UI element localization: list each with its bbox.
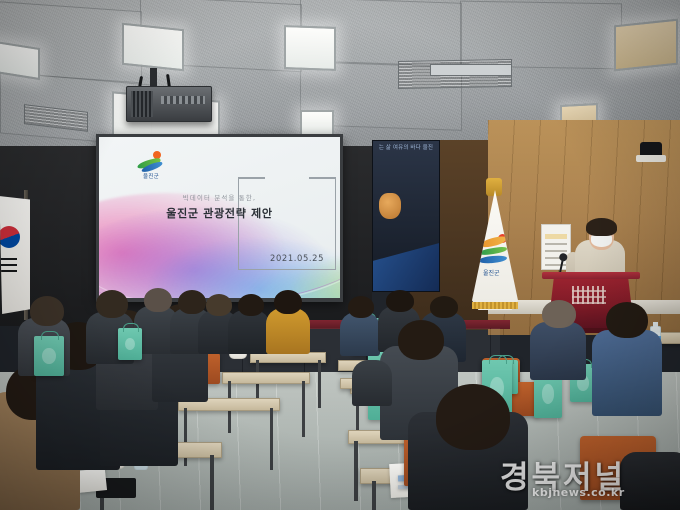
audience-person-head — [274, 290, 302, 314]
audience-person-head — [606, 302, 648, 338]
audience-person-head — [398, 320, 444, 360]
conference-photo: 는 삶 여유의 바다 울진 울진군 빅데이터 분석을 통한, 울진군 관광전략 … — [0, 0, 680, 510]
speaker-hair — [586, 218, 617, 236]
slide-subtitle: 빅데이터 분석을 통한, — [99, 193, 340, 202]
cctv-camera-icon — [640, 142, 662, 158]
uljin-flag-label: 울진군 — [483, 268, 500, 277]
uljin-logo-label: 울진군 — [143, 172, 159, 180]
audience-person — [228, 310, 270, 354]
ceiling-air-vent — [430, 64, 512, 76]
audience-person-head — [430, 296, 458, 318]
audience-person-head — [30, 296, 64, 326]
audience-person-head — [542, 300, 576, 328]
korean-national-flag — [0, 196, 30, 314]
audience-person — [352, 360, 392, 406]
audience-table — [222, 372, 310, 384]
audience-person-head — [144, 288, 172, 312]
gift-bag — [34, 336, 64, 376]
ceiling-projector — [126, 86, 212, 122]
audience-person-head — [238, 294, 264, 316]
podium-top-surface — [542, 272, 640, 279]
audience-person-head — [96, 290, 128, 318]
ceiling-light — [614, 19, 678, 72]
audience-person — [266, 308, 310, 354]
ceiling-light — [284, 25, 336, 71]
slide-title: 울진군 관광전략 제안 — [99, 205, 340, 221]
uljin-logo-icon: 울진군 — [135, 151, 171, 181]
audience-person-head — [178, 290, 206, 314]
banner-wave-graphic — [373, 239, 439, 291]
audience-person — [620, 452, 680, 510]
audience-person — [340, 312, 380, 356]
audience-person — [592, 330, 662, 416]
projection-screen: 울진군 빅데이터 분석을 통한, 울진군 관광전략 제안 2021.05.25 — [99, 137, 340, 298]
audience-person-head — [436, 384, 510, 450]
audience-person — [530, 322, 586, 380]
gift-bag — [118, 328, 142, 360]
banner-text: 는 삶 여유의 바다 울진 — [375, 145, 437, 152]
audience-person-head — [348, 296, 374, 318]
podium-emblem-icon — [572, 286, 606, 304]
slide-date: 2021.05.25 — [99, 253, 324, 263]
wall-banner-poster: 는 삶 여유의 바다 울진 — [372, 140, 440, 292]
ceiling-light — [122, 23, 184, 72]
flag-finial — [486, 178, 502, 196]
taeguk-circle-icon — [0, 226, 20, 248]
banner-mascot-icon — [379, 193, 401, 219]
audience-person-head — [206, 294, 232, 316]
flag-fringe — [472, 302, 518, 309]
audience-person-head — [386, 290, 414, 312]
ceiling-light — [300, 110, 334, 136]
